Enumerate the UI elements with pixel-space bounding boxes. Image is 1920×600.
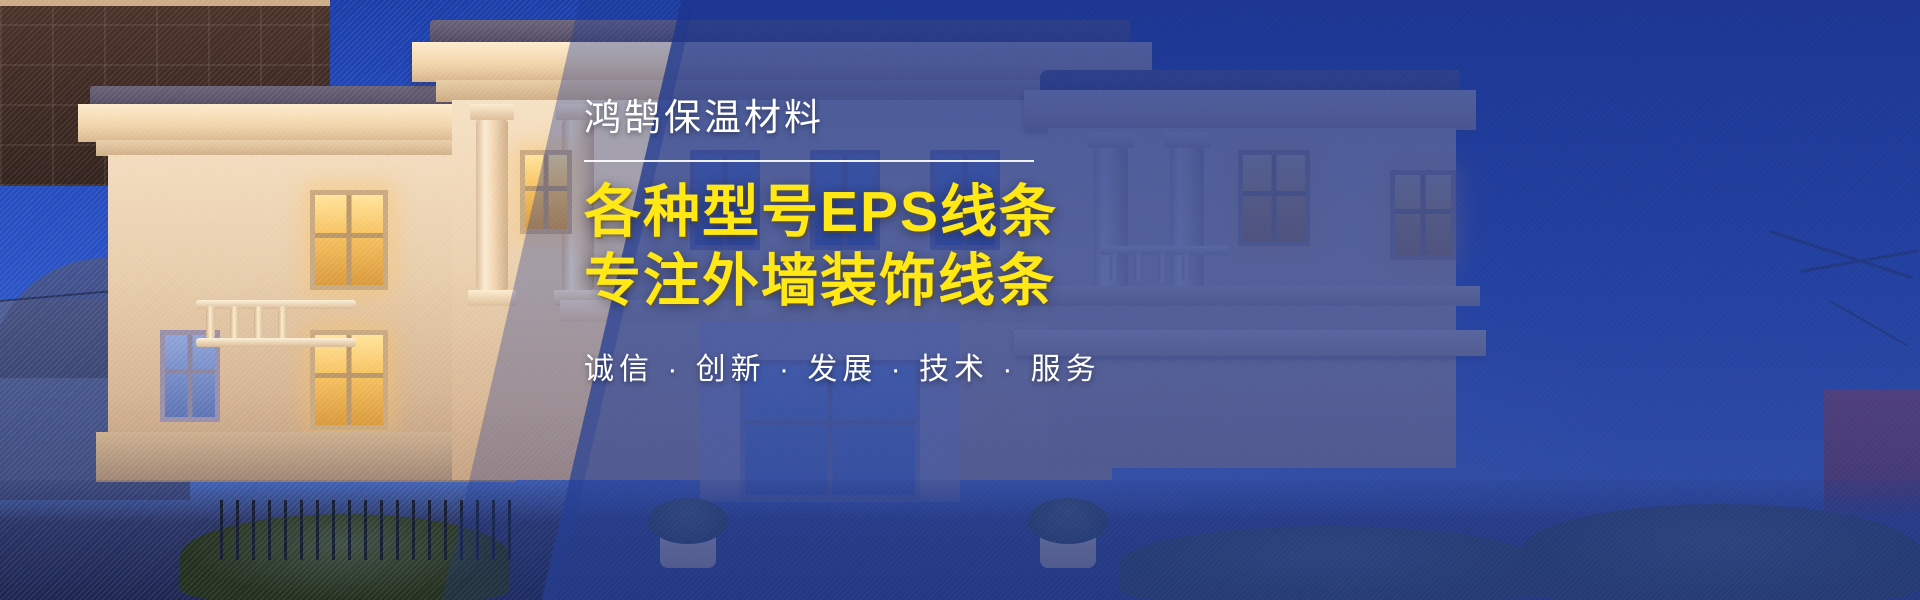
headline-line-1: 各种型号EPS线条 [584, 178, 1104, 247]
baluster [230, 306, 239, 340]
tagline: 诚信 · 创新 · 发展 · 技术 · 服务 [584, 344, 1104, 388]
baluster [254, 306, 263, 340]
balustrade-rail [196, 300, 356, 309]
hero-banner: 鸿鹄保温材料 各种型号EPS线条 专注外墙装饰线条 诚信 · 创新 · 发展 ·… [0, 0, 1920, 600]
column-capital [470, 104, 514, 120]
banner-copy: 鸿鹄保温材料 各种型号EPS线条 专注外墙装饰线条 诚信 · 创新 · 发展 ·… [584, 96, 1104, 388]
headline-line-2: 专注外墙装饰线条 [584, 247, 1104, 316]
baluster [278, 306, 287, 340]
divider-rule [584, 160, 1034, 162]
column [476, 120, 508, 290]
baluster [206, 306, 215, 340]
balustrade-base [196, 338, 356, 347]
left-wing-cornice-lower [96, 140, 508, 156]
brand-name: 鸿鹄保温材料 [584, 96, 1104, 140]
column-base [468, 290, 516, 306]
window-glow [310, 190, 388, 290]
